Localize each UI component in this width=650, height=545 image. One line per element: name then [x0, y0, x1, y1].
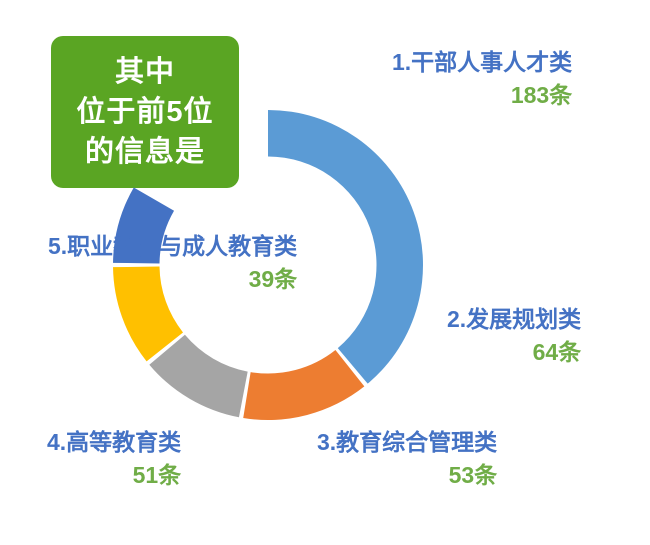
chart-label-4-title: 4.高等教育类: [47, 428, 181, 457]
chart-label-5-count: 39条: [48, 265, 297, 294]
chart-label-4: 4.高等教育类 51条: [47, 428, 181, 490]
chart-label-2-title: 2.发展规划类: [447, 305, 581, 334]
chart-label-2-count: 64条: [447, 338, 581, 367]
chart-label-3-count: 53条: [317, 461, 497, 490]
chart-label-3-title: 3.教育综合管理类: [317, 428, 497, 457]
chart-label-5-title: 5.职业教育与成人教育类: [48, 232, 297, 261]
chart-label-1: 1.干部人事人才类 183条: [392, 48, 572, 110]
chart-label-5: 5.职业教育与成人教育类 39条: [48, 232, 297, 294]
chart-label-2: 2.发展规划类 64条: [447, 305, 581, 367]
chart-label-1-count: 183条: [392, 81, 572, 110]
chart-label-3: 3.教育综合管理类 53条: [317, 428, 497, 490]
infographic-root: 其中 位于前5位 的信息是 1.干部人事人才类 183条 2.发展规划类 64条…: [0, 0, 650, 545]
chart-label-4-count: 51条: [47, 461, 181, 490]
chart-label-1-title: 1.干部人事人才类: [392, 48, 572, 77]
callout-line-1: 其中: [115, 52, 175, 92]
donut-segment-2: [243, 350, 364, 420]
